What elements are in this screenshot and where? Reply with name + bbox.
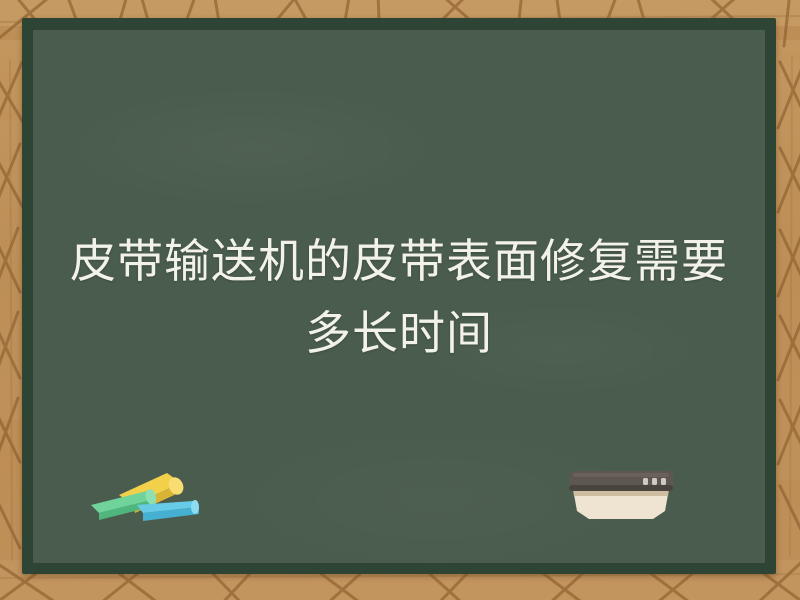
chalk-sticks	[89, 461, 209, 525]
blackboard-eraser	[565, 465, 677, 521]
page-title: 皮带输送机的皮带表面修复需要多长时间	[33, 226, 765, 370]
chalkboard-surface: 皮带输送机的皮带表面修复需要多长时间	[33, 30, 765, 563]
eraser-felt	[573, 489, 669, 519]
eraser-body	[569, 471, 673, 491]
chalkboard-scene: 皮带输送机的皮带表面修复需要多长时间	[0, 0, 800, 600]
eraser-grip-dots	[643, 478, 666, 485]
chalkboard-frame: 皮带输送机的皮带表面修复需要多长时间	[22, 18, 776, 574]
